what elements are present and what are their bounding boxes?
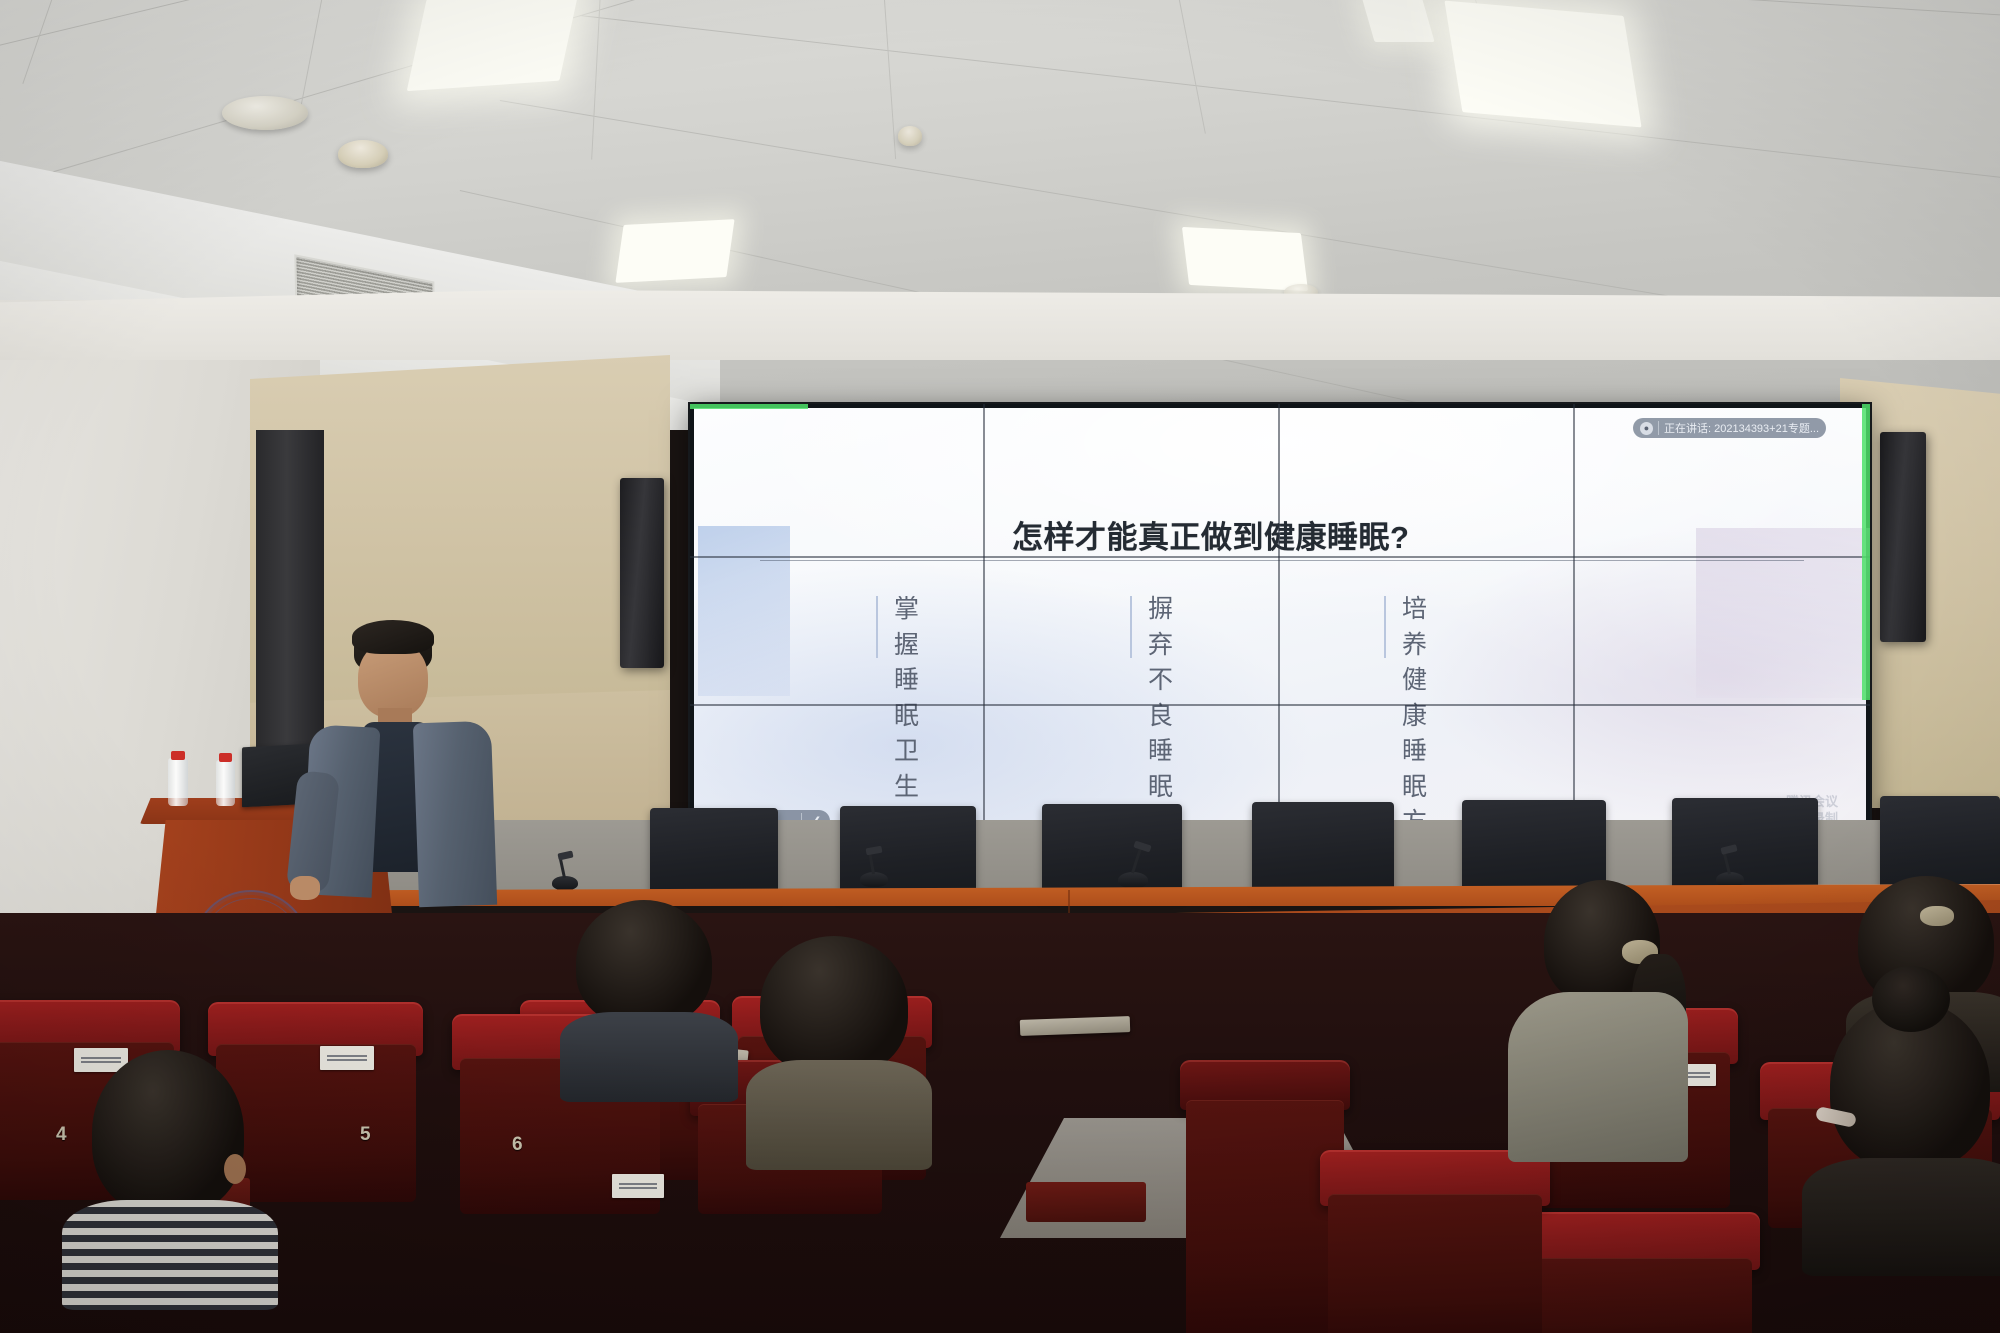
audience-hair — [760, 936, 908, 1076]
presenter-jacket-right — [413, 721, 497, 908]
audience-hair — [576, 900, 712, 1026]
audience-ear — [224, 1154, 246, 1184]
slide-column-3-text: 培养健康睡 眠方式 — [1402, 592, 1427, 844]
ceiling-light-panel — [1444, 1, 1641, 128]
seat-tag — [612, 1174, 664, 1198]
presenter-hand — [290, 876, 320, 900]
wall-speaker-left — [620, 478, 664, 668]
slide-canvas: 怎样才能真正做到健康睡眠? 掌握睡眠卫 生知识 摒弃不良睡 眠习惯 培养健康睡 … — [694, 408, 1866, 840]
screen-bezel-seam — [690, 556, 1870, 558]
stage-chair — [650, 808, 778, 898]
speaking-badge-label: 正在讲话: 202134393+21专题... — [1664, 420, 1819, 436]
ceiling-light-panel — [407, 0, 580, 91]
wall-upper-band — [0, 290, 2000, 360]
ceiling-light-panel — [1361, 0, 1434, 42]
slide-light-wash — [694, 408, 1866, 840]
ceiling-light-panel — [1182, 227, 1308, 291]
presenter-hair-top — [352, 620, 434, 654]
slide-accent-block-left — [698, 526, 790, 696]
slide-column-rule — [1384, 596, 1386, 658]
sprinkler-head-icon — [338, 140, 388, 168]
wall-speaker-right — [1880, 432, 1926, 642]
audience-torso — [1508, 992, 1688, 1162]
speaking-badge[interactable]: ● 正在讲话: 202134393+21专题... — [1633, 418, 1826, 438]
seat-back-board — [1328, 1194, 1542, 1333]
audience-torso — [1802, 1158, 2000, 1276]
water-bottle — [216, 760, 235, 806]
audience-bun — [1872, 966, 1950, 1032]
sprinkler-head-icon — [898, 126, 922, 146]
screen-bezel-seam — [983, 404, 985, 844]
slide-column-rule — [876, 596, 878, 658]
audience-torso — [560, 1012, 738, 1102]
screen-bezel-seam — [1278, 404, 1280, 844]
audience-torso — [746, 1060, 932, 1170]
audience-member — [1820, 1000, 2000, 1270]
slide-title-underline — [760, 560, 1804, 561]
slide-title: 怎样才能真正做到健康睡眠? — [1012, 512, 1409, 557]
seat-number: 5 — [360, 1124, 372, 1146]
seat-tag — [320, 1046, 374, 1070]
stage-chair — [1042, 804, 1182, 898]
stage-chair — [840, 806, 976, 898]
audience-hair-tie — [1920, 906, 1954, 926]
ceiling-light-panel — [615, 219, 734, 283]
bottle-cap — [219, 753, 232, 762]
microphone-icon: ● — [1640, 422, 1653, 435]
water-bottle — [168, 758, 188, 806]
screen-green-edge — [690, 404, 808, 409]
audience-member — [760, 936, 920, 1136]
audience-member — [84, 1050, 264, 1280]
smoke-detector-icon — [222, 96, 308, 130]
screen-green-edge — [1862, 404, 1870, 700]
stage-chair — [1252, 802, 1394, 898]
seat[interactable] — [1320, 1150, 1550, 1333]
audience-member — [576, 900, 726, 1080]
audience-member — [1516, 880, 1706, 1130]
video-wall-screen[interactable]: 怎样才能真正做到健康睡眠? 掌握睡眠卫 生知识 摒弃不良睡 眠习惯 培养健康睡 … — [690, 404, 1870, 844]
seat-armrest — [1026, 1182, 1146, 1222]
audience-hair — [92, 1050, 244, 1215]
seat-number: 6 — [512, 1134, 524, 1156]
slide-column-rule — [1130, 596, 1132, 658]
lecture-hall-scene: 怎样才能真正做到健康睡眠? 掌握睡眠卫 生知识 摒弃不良睡 眠习惯 培养健康睡 … — [0, 0, 2000, 1333]
screen-bezel-seam — [690, 704, 1870, 706]
badge-divider — [1658, 421, 1659, 435]
screen-bezel-seam — [1573, 404, 1575, 844]
audience-torso — [62, 1200, 278, 1310]
presenter — [300, 622, 500, 912]
slide-accent-block-right — [1696, 528, 1870, 698]
bottle-cap — [171, 751, 185, 760]
seat-number: 4 — [56, 1124, 68, 1146]
